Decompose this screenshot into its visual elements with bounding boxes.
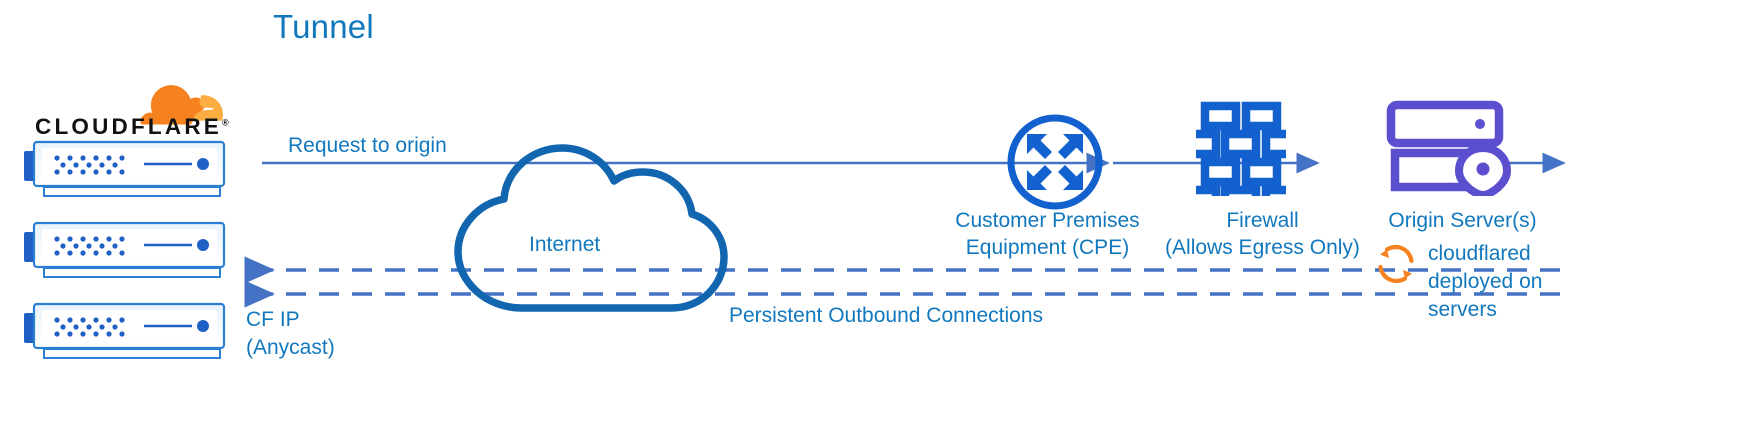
cloudflare-wordmark-text: CLOUDFLARE xyxy=(35,114,222,139)
origin-server-node[interactable] xyxy=(1385,100,1511,201)
cf-ip-label-line2: (Anycast) xyxy=(246,334,406,362)
diagram-canvas: Tunnel CLOUDFLARE® xyxy=(0,0,1754,422)
cf-ip-label-group: CF IP (Anycast) xyxy=(246,306,406,362)
internet-cloud[interactable] xyxy=(440,140,730,320)
firewall-label-group: Firewall (Allows Egress Only) xyxy=(1155,207,1370,261)
firewall-node[interactable] xyxy=(1196,98,1286,201)
brick-wall-icon xyxy=(1196,98,1286,196)
converging-arrows-circle-icon xyxy=(1003,110,1107,214)
firewall-label-line2: (Allows Egress Only) xyxy=(1155,234,1370,261)
cpe-label-group: Customer Premises Equipment (CPE) xyxy=(940,207,1155,261)
cloudflared-refresh-icon xyxy=(1372,240,1420,293)
cloudflare-logo: CLOUDFLARE® xyxy=(30,78,230,140)
firewall-label-line1: Firewall xyxy=(1155,207,1370,234)
cloudflare-wordmark: CLOUDFLARE® xyxy=(35,114,229,140)
cpe-label-line1: Customer Premises xyxy=(940,207,1155,234)
trademark-symbol: ® xyxy=(222,118,229,128)
persistent-outbound-label: Persistent Outbound Connections xyxy=(729,302,1043,329)
cf-edge-server-3[interactable] xyxy=(22,301,227,361)
page-title: Tunnel xyxy=(273,8,374,46)
cloudflared-note-line2: deployed on xyxy=(1428,268,1568,296)
server-rack-pin-icon xyxy=(1385,100,1511,196)
origin-label-line1: Origin Server(s) xyxy=(1355,207,1570,234)
origin-label-group: Origin Server(s) xyxy=(1355,207,1570,234)
cloudflared-note-line1: cloudflared xyxy=(1428,240,1568,268)
cloudflared-note-line3: servers xyxy=(1428,296,1568,324)
cf-edge-server-2[interactable] xyxy=(22,220,227,280)
cpe-node[interactable] xyxy=(1003,110,1107,219)
request-to-origin-label: Request to origin xyxy=(288,132,447,159)
cf-ip-label-line1: CF IP xyxy=(246,306,406,334)
cf-edge-server-1[interactable] xyxy=(22,139,227,199)
cloudflared-note: cloudflared deployed on servers xyxy=(1428,240,1568,324)
internet-label: Internet xyxy=(529,231,600,258)
cpe-label-line2: Equipment (CPE) xyxy=(940,234,1155,261)
